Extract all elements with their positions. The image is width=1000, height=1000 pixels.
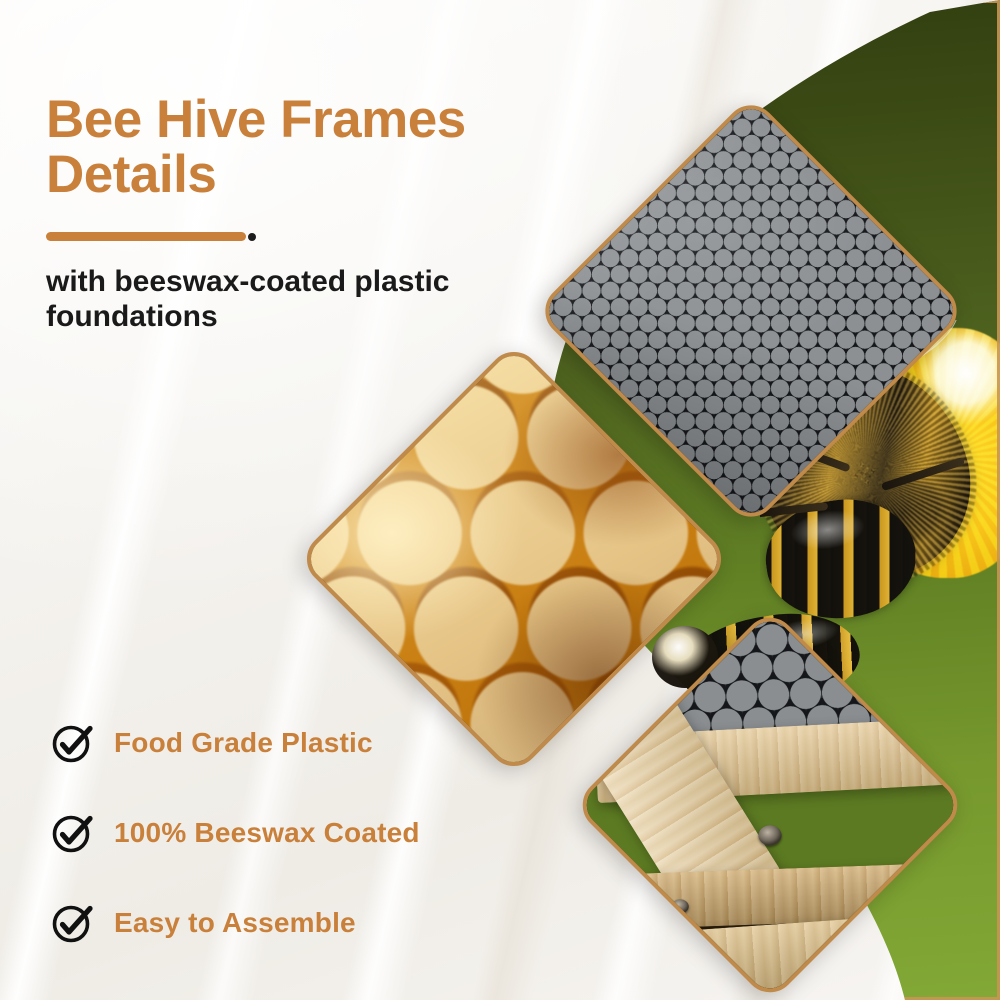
check-circle-icon	[50, 901, 94, 945]
title-divider	[46, 232, 246, 241]
product-infographic: Bee Hive Frames Details with beeswax-coa…	[0, 0, 1000, 1000]
list-item-label: 100% Beeswax Coated	[114, 817, 420, 849]
feature-list: Food Grade Plastic 100% Beeswax Coated E…	[50, 698, 520, 968]
list-item: 100% Beeswax Coated	[50, 788, 520, 878]
divider-dot	[248, 233, 256, 241]
frame-screw	[758, 825, 781, 845]
page-subtitle: with beeswax-coated plastic foundations	[46, 264, 576, 335]
list-item-label: Food Grade Plastic	[114, 727, 373, 759]
check-circle-icon	[50, 811, 94, 855]
list-item: Food Grade Plastic	[50, 698, 520, 788]
list-item: Easy to Assemble	[50, 878, 520, 968]
check-circle-icon	[50, 721, 94, 765]
page-title: Bee Hive Frames Details	[46, 92, 606, 202]
list-item-label: Easy to Assemble	[114, 907, 356, 939]
